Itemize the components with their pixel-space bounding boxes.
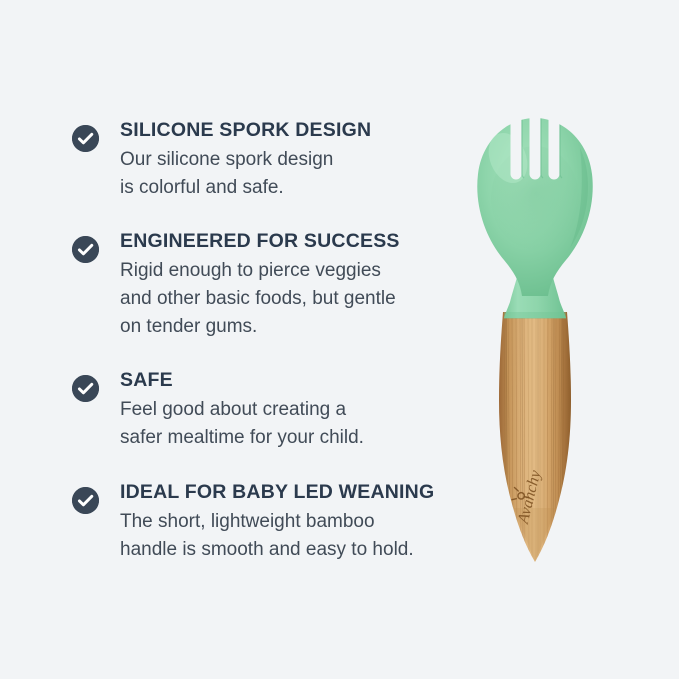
feature-body: Feel good about creating a safer mealtim… [120,396,472,452]
feature-item-silicone-spork-design: SILICONE SPORK DESIGN Our silicone spork… [72,118,472,202]
spork-tine-slots [511,109,560,180]
feature-body-line: Feel good about creating a [120,396,472,424]
feature-item-engineered-for-success: ENGINEERED FOR SUCCESS Rigid enough to p… [72,229,472,341]
feature-body: The short, lightweight bamboo handle is … [120,508,472,564]
feature-item-safe: SAFE Feel good about creating a safer me… [72,368,472,452]
product-feature-page: SILICONE SPORK DESIGN Our silicone spork… [0,0,679,679]
feature-body-line: on tender gums. [120,313,472,341]
feature-title: SILICONE SPORK DESIGN [120,118,472,143]
feature-list: SILICONE SPORK DESIGN Our silicone spork… [72,118,472,564]
bamboo-handle: Avanchy [498,305,572,575]
feature-title: ENGINEERED FOR SUCCESS [120,229,472,254]
feature-body: Rigid enough to pierce veggies and other… [120,257,472,341]
feature-body-line: The short, lightweight bamboo [120,508,472,536]
check-circle-icon [72,125,99,152]
feature-body: Our silicone spork design is colorful an… [120,146,472,202]
feature-body-line: is colorful and safe. [120,174,472,202]
feature-body-line: and other basic foods, but gentle [120,285,472,313]
feature-title: SAFE [120,368,472,393]
feature-body-line: Rigid enough to pierce veggies [120,257,472,285]
feature-body-line: safer mealtime for your child. [120,424,472,452]
product-image-baby-spork: Avanchy [470,100,620,580]
check-circle-icon [72,487,99,514]
feature-body-line: Our silicone spork design [120,146,472,174]
feature-title: IDEAL FOR BABY LED WEANING [120,480,472,505]
silicone-spork-head [477,109,592,296]
check-circle-icon [72,375,99,402]
feature-item-ideal-for-baby-led-weaning: IDEAL FOR BABY LED WEANING The short, li… [72,480,472,564]
feature-body-line: handle is smooth and easy to hold. [120,536,472,564]
check-circle-icon [72,236,99,263]
